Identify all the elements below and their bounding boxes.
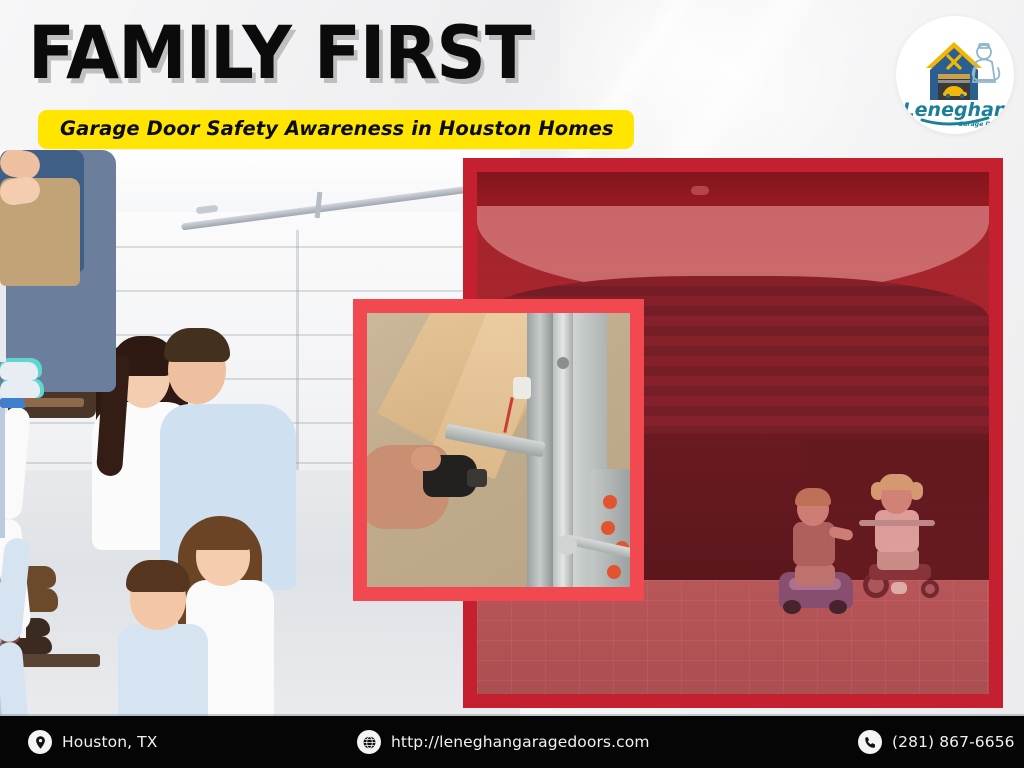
svg-text:Garage Doors: Garage Doors bbox=[958, 121, 1006, 128]
page-subtitle: Garage Door Safety Awareness in Houston … bbox=[60, 117, 614, 140]
technician-thumb bbox=[411, 447, 441, 471]
footer-website[interactable]: http://leneghangaragedoors.com bbox=[357, 716, 650, 768]
track-bolt bbox=[557, 357, 569, 369]
person-boy bbox=[0, 178, 80, 716]
footer-website-label: http://leneghangaragedoors.com bbox=[391, 733, 650, 751]
sensor-photo-frame bbox=[353, 299, 644, 601]
footer-bar: Houston, TX http://leneghangaragedoors.c… bbox=[0, 716, 1024, 768]
svg-text:Leneghan: Leneghan bbox=[903, 99, 1008, 121]
footer-phone-label: (281) 867-6656 bbox=[892, 733, 1015, 751]
rod-bearing bbox=[557, 535, 577, 555]
brand-logo[interactable]: Leneghan Garage Doors bbox=[896, 16, 1014, 134]
sensor-installation-photo bbox=[367, 313, 630, 587]
house-garage-logo-icon: Leneghan Garage Doors bbox=[896, 16, 1014, 134]
globe-icon bbox=[357, 730, 381, 754]
drill-chuck bbox=[467, 469, 487, 487]
poster-canvas: FAMILY FIRST Garage Door Safety Awarenes… bbox=[0, 0, 1024, 768]
footer-phone[interactable]: (281) 867-6656 bbox=[858, 716, 1015, 768]
footer-location[interactable]: Houston, TX bbox=[28, 716, 157, 768]
subtitle-highlight-bar: Garage Door Safety Awareness in Houston … bbox=[38, 110, 634, 149]
page-title: FAMILY FIRST bbox=[28, 16, 531, 92]
safety-sensor bbox=[513, 377, 531, 399]
phone-icon bbox=[858, 730, 882, 754]
location-pin-icon bbox=[28, 730, 52, 754]
footer-location-label: Houston, TX bbox=[62, 733, 157, 751]
